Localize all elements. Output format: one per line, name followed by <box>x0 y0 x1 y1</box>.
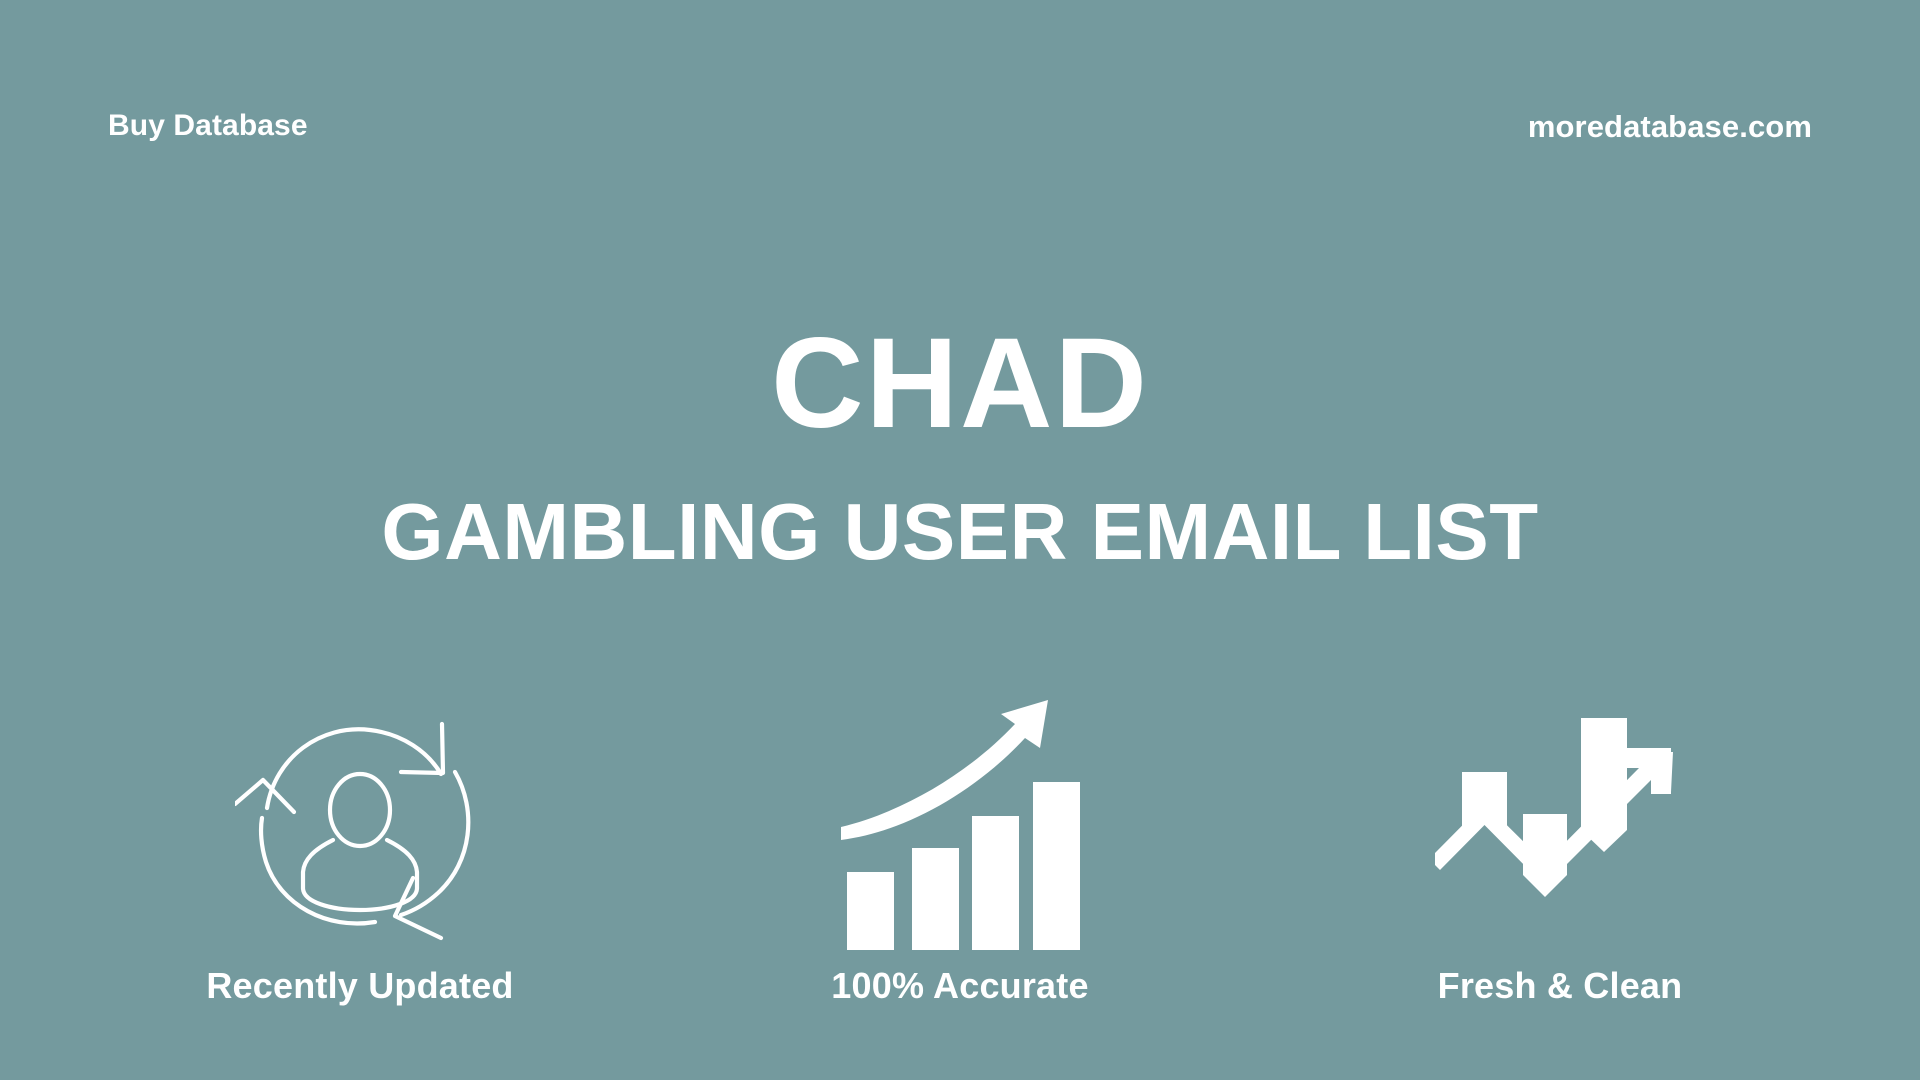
hero-section: CHAD GAMBLING USER EMAIL LIST <box>0 320 1920 572</box>
recently-updated-user-cycle-icon <box>235 700 485 950</box>
growth-bar-chart-arrow-icon <box>835 700 1085 950</box>
feature-item-fresh-clean: Fresh & Clean <box>1330 690 1790 1004</box>
website-domain-label: moredatabase.com <box>1528 111 1812 142</box>
buy-database-label: Buy Database <box>108 111 308 141</box>
page-subtitle: GAMBLING USER EMAIL LIST <box>0 492 1920 572</box>
page-title: CHAD <box>0 320 1920 448</box>
feature-label: Fresh & Clean <box>1438 968 1683 1004</box>
bar-chart-zigzag-arrow-icon <box>1435 700 1685 950</box>
feature-icon-wrapper <box>835 690 1085 950</box>
feature-label: 100% Accurate <box>831 968 1088 1004</box>
feature-list: Recently Updated 100% Accurate <box>0 690 1920 1040</box>
feature-item-accurate: 100% Accurate <box>730 690 1190 1004</box>
feature-label: Recently Updated <box>206 968 513 1004</box>
feature-icon-wrapper <box>1435 690 1685 950</box>
feature-icon-wrapper <box>235 690 485 950</box>
banner-header: Buy Database moredatabase.com <box>0 96 1920 156</box>
feature-item-recently-updated: Recently Updated <box>130 690 590 1004</box>
promo-banner: Buy Database moredatabase.com CHAD GAMBL… <box>0 0 1920 1080</box>
